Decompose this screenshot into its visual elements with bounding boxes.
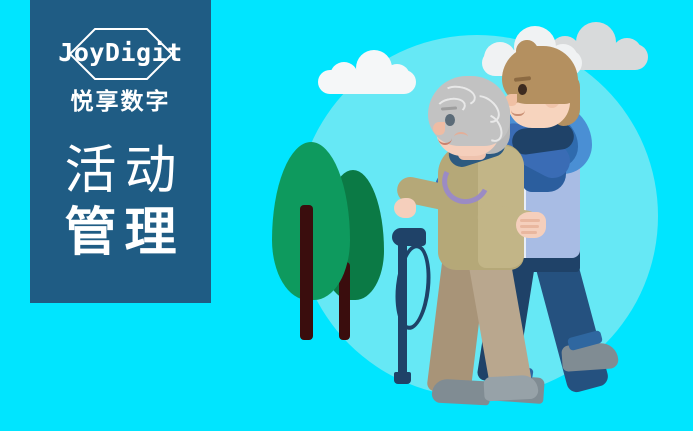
elder-hand-held bbox=[516, 212, 546, 238]
cane-shaft bbox=[398, 236, 407, 378]
tree-front-trunk bbox=[300, 205, 313, 340]
elder-cheek-line bbox=[454, 132, 468, 142]
elder-shoe-back bbox=[431, 378, 490, 405]
finger bbox=[520, 219, 540, 222]
elder-eye bbox=[445, 114, 455, 126]
page-title-line-1: 活动 bbox=[30, 140, 211, 202]
page-title-line-2: 管理 bbox=[30, 202, 211, 264]
page-title: 活动 管理 bbox=[30, 140, 211, 264]
logo-subtitle-cn: 悦享数字 bbox=[30, 86, 211, 116]
elder-hand-cane bbox=[394, 198, 416, 218]
finger bbox=[520, 225, 539, 228]
brand-logo: JoyDigit 悦享数字 bbox=[30, 28, 211, 116]
elder-nose bbox=[433, 122, 445, 135]
cane-handle bbox=[392, 228, 426, 246]
logo-badge: JoyDigit bbox=[30, 28, 211, 80]
logo-wordmark: JoyDigit bbox=[30, 36, 211, 70]
poster-canvas: JoyDigit 悦享数字 活动 管理 bbox=[0, 0, 693, 431]
cane-tip bbox=[394, 372, 411, 384]
finger bbox=[521, 231, 537, 234]
elder-shoe-front bbox=[483, 375, 538, 402]
title-panel: JoyDigit 悦享数字 活动 管理 bbox=[30, 0, 211, 303]
